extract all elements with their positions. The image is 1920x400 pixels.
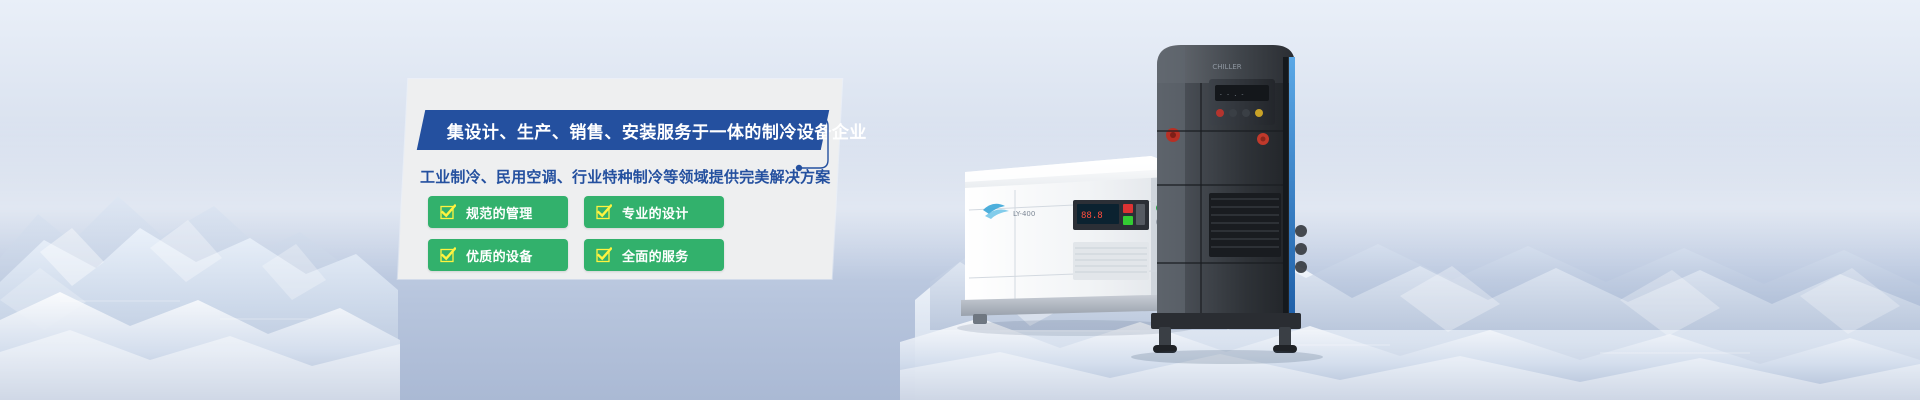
feature-item-0[interactable]: 规范的管理 [428, 196, 568, 228]
check-box-icon [596, 204, 612, 220]
feature-label: 专业的设计 [622, 203, 689, 222]
svg-text:88.8: 88.8 [1081, 211, 1103, 221]
promo-banner: 集设计、生产、销售、安装服务于一体的制冷设备企业 工业制冷、民用空调、行业特种制… [0, 0, 1920, 400]
headline-text: 集设计、生产、销售、安装服务于一体的制冷设备企业 [421, 118, 867, 143]
feature-item-1[interactable]: 专业的设计 [584, 196, 724, 228]
feature-label: 全面的服务 [622, 246, 689, 265]
check-box-icon [596, 247, 612, 263]
feature-item-2[interactable]: 优质的设备 [428, 239, 568, 271]
feature-item-3[interactable]: 全面的服务 [584, 239, 724, 271]
svg-text:CHILLER: CHILLER [1212, 63, 1241, 71]
feature-label: 规范的管理 [466, 203, 533, 222]
check-box-icon [440, 204, 456, 220]
subtitle-text: 工业制冷、民用空调、行业特种制冷等领域提供完美解决方案 [420, 166, 820, 187]
check-box-icon [440, 247, 456, 263]
feature-list: 规范的管理 专业的设计 优质的设备 [428, 196, 724, 271]
svg-text:- - . -: - - . - [1219, 91, 1244, 98]
svg-text:LY-400: LY-400 [1013, 210, 1035, 218]
headline-banner: 集设计、生产、销售、安装服务于一体的制冷设备企业 [421, 110, 825, 150]
product-chiller-large: CHILLER - - . - [1123, 35, 1333, 365]
feature-label: 优质的设备 [466, 246, 533, 265]
